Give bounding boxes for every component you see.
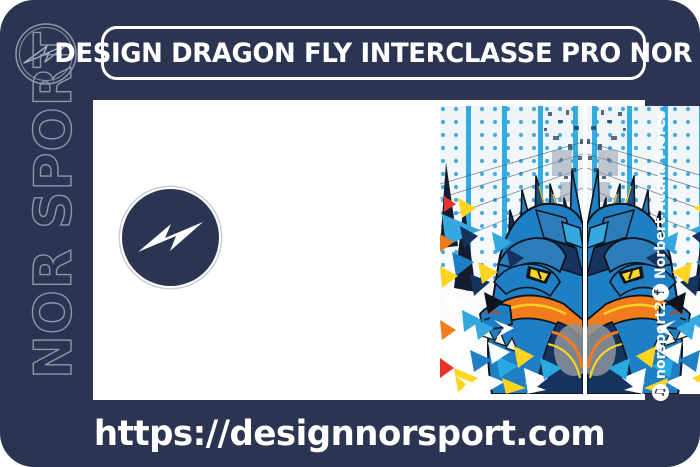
brand-rail-text: NOR SPORT: [24, 31, 84, 379]
website-url[interactable]: https://designnorsport.com: [94, 414, 605, 454]
brand-logo-badge: [122, 189, 219, 286]
page-title: DESIGN DRAGON FLY INTERCLASSE PRO NOR: [55, 38, 693, 69]
social-label-facebook: Norbert Acuña Flores: [653, 111, 669, 279]
social-link-tiktok[interactable]: ♫ norsport25: [652, 291, 669, 401]
social-link-facebook[interactable]: f Norbert Acuña Flores: [652, 111, 669, 301]
social-rail: f Norbert Acuña Flores ♫ norsport25: [652, 96, 692, 401]
tiktok-icon: ♫: [652, 384, 669, 401]
design-title-box: DESIGN DRAGON FLY INTERCLASSE PRO NOR: [101, 26, 646, 80]
lightning-bolt-logo-icon: [122, 189, 219, 286]
artwork-panel: [93, 100, 645, 400]
design-preview-card: NOR SPORT DESIGN DRAGON FLY INTERCLASSE …: [0, 0, 700, 467]
website-url-bar: https://designnorsport.com: [0, 404, 700, 464]
social-label-tiktok: norsport25: [653, 291, 669, 379]
dragon-artwork-left-half: [440, 106, 583, 394]
left-brand-rail: NOR SPORT: [0, 0, 92, 467]
brand-rail-text-wrap: NOR SPORT: [19, 55, 89, 355]
